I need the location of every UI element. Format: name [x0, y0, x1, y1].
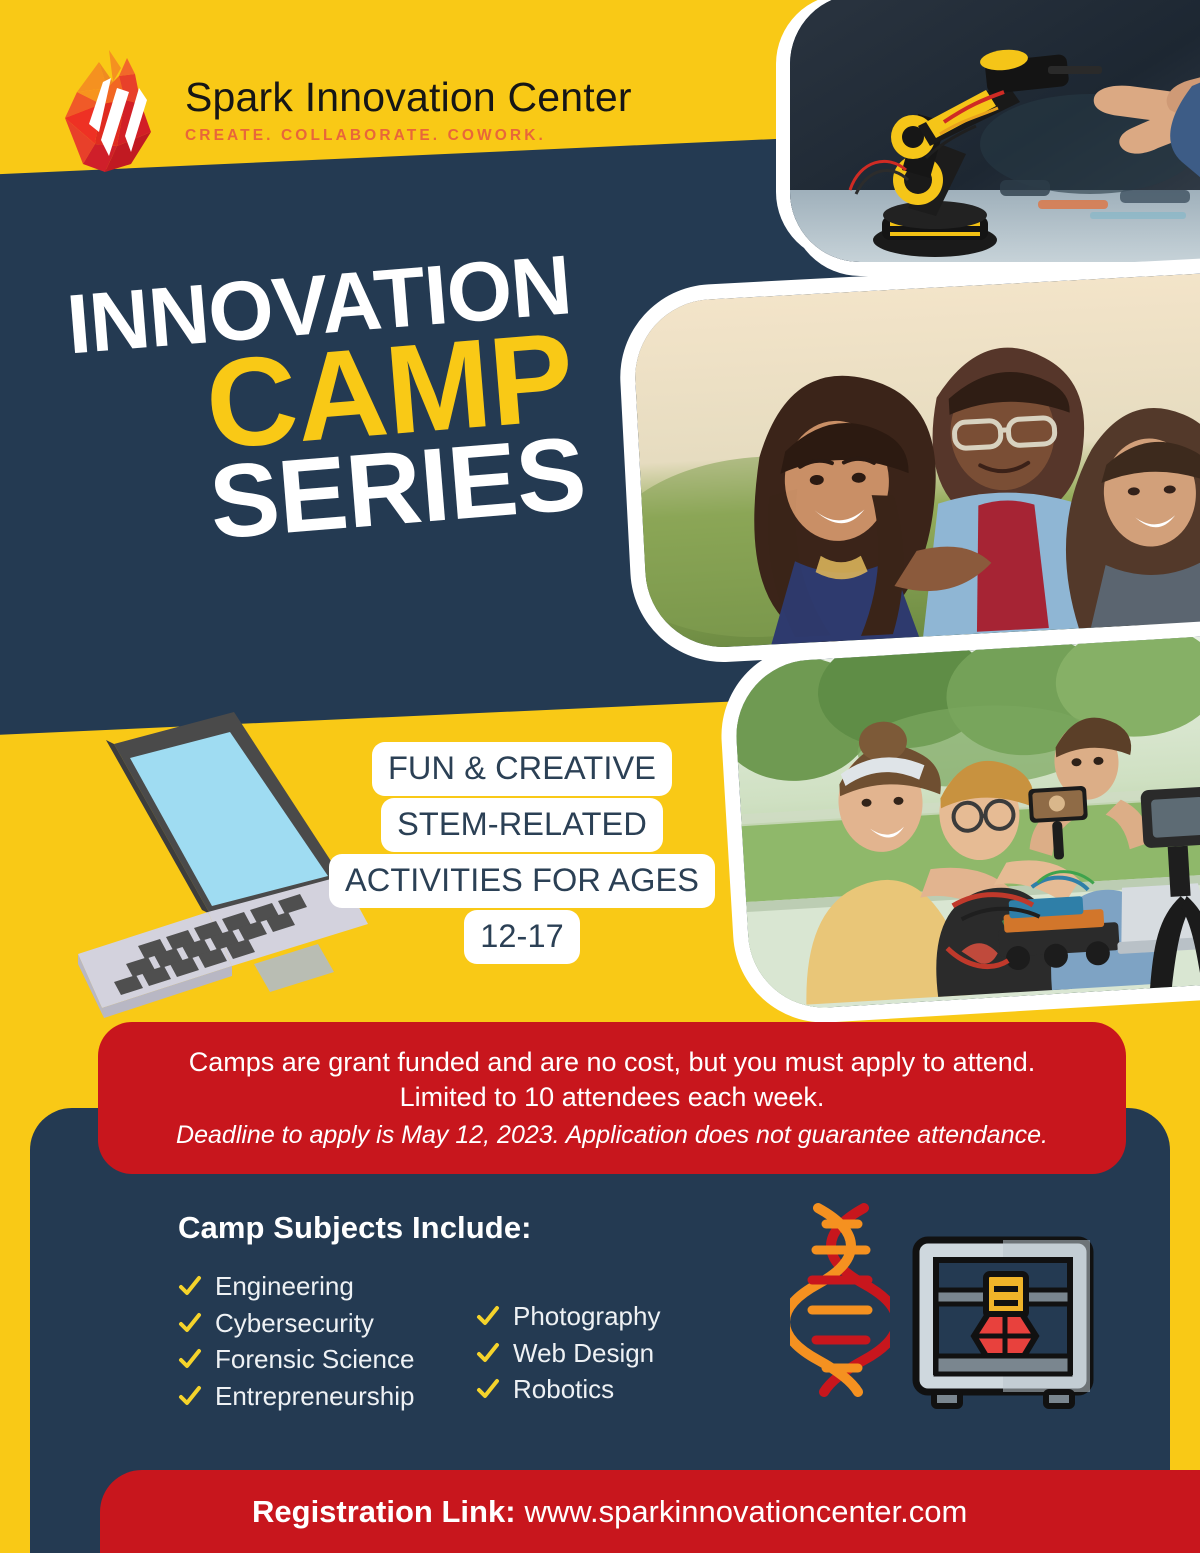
subjects-columns: Engineering Cybersecurity Forensic Scien… — [178, 1272, 660, 1410]
notice-line-2: Limited to 10 attendees each week. — [400, 1080, 825, 1115]
registration-url[interactable]: www.sparkinnovationcenter.com — [525, 1494, 968, 1530]
cost-notice-banner: Camps are grant funded and are no cost, … — [98, 1022, 1126, 1174]
list-item: Web Design — [476, 1339, 660, 1368]
list-item: Photography — [476, 1302, 660, 1331]
notice-deadline: Deadline to apply is May 12, 2023. Appli… — [176, 1119, 1048, 1152]
flyer-page: Spark Innovation Center CREATE. COLLABOR… — [0, 0, 1200, 1553]
camp-subjects-section: Camp Subjects Include: Engineering Cyber… — [178, 1210, 660, 1410]
page-title: INNOVATION CAMP SERIES — [60, 235, 720, 563]
list-item: Robotics — [476, 1375, 660, 1404]
subject-label: Cybersecurity — [215, 1309, 374, 1338]
tagline-block: FUN & CREATIVE STEM-RELATED ACTIVITIES F… — [312, 742, 732, 964]
subject-label: Engineering — [215, 1272, 354, 1301]
flame-icon — [55, 48, 163, 173]
robotic-arm-photo — [790, 0, 1200, 262]
tagline-line-3: ACTIVITIES FOR AGES — [329, 854, 715, 908]
brand-name: Spark Innovation Center — [185, 76, 632, 119]
subjects-column-right: Photography Web Design Robotics — [476, 1272, 660, 1404]
check-icon — [178, 1347, 202, 1371]
list-item: Forensic Science — [178, 1345, 468, 1374]
tagline-line-2: STEM-RELATED — [381, 798, 663, 852]
registration-bar[interactable]: Registration Link: www.sparkinnovationce… — [100, 1470, 1200, 1553]
dna-helix-icon — [790, 1198, 890, 1398]
subjects-heading: Camp Subjects Include: — [178, 1210, 660, 1246]
brand-text: Spark Innovation Center CREATE. COLLABOR… — [185, 76, 632, 144]
subject-label: Forensic Science — [215, 1345, 414, 1374]
check-icon — [178, 1311, 202, 1335]
subject-label: Photography — [513, 1302, 660, 1331]
brand-tagline: CREATE. COLLABORATE. COWORK. — [185, 127, 632, 145]
list-item: Entrepreneurship — [178, 1382, 468, 1411]
check-icon — [178, 1274, 202, 1298]
registration-label: Registration Link: — [252, 1494, 516, 1530]
check-icon — [476, 1377, 500, 1401]
tagline-line-4: 12-17 — [464, 910, 580, 964]
list-item: Engineering — [178, 1272, 468, 1301]
notice-line-1: Camps are grant funded and are no cost, … — [189, 1045, 1036, 1080]
subject-label: Web Design — [513, 1339, 654, 1368]
subjects-column-left: Engineering Cybersecurity Forensic Scien… — [178, 1272, 468, 1410]
tagline-line-1: FUN & CREATIVE — [372, 742, 672, 796]
students-building-robot-photo — [732, 636, 1200, 1012]
check-icon — [178, 1384, 202, 1408]
list-item: Cybersecurity — [178, 1309, 468, 1338]
brand-logo: Spark Innovation Center CREATE. COLLABOR… — [55, 48, 632, 173]
subject-label: Robotics — [513, 1375, 614, 1404]
subject-label: Entrepreneurship — [215, 1382, 414, 1411]
3d-printer-icon — [908, 1228, 1098, 1418]
teens-group-photo — [631, 273, 1200, 651]
check-icon — [476, 1341, 500, 1365]
check-icon — [476, 1304, 500, 1328]
